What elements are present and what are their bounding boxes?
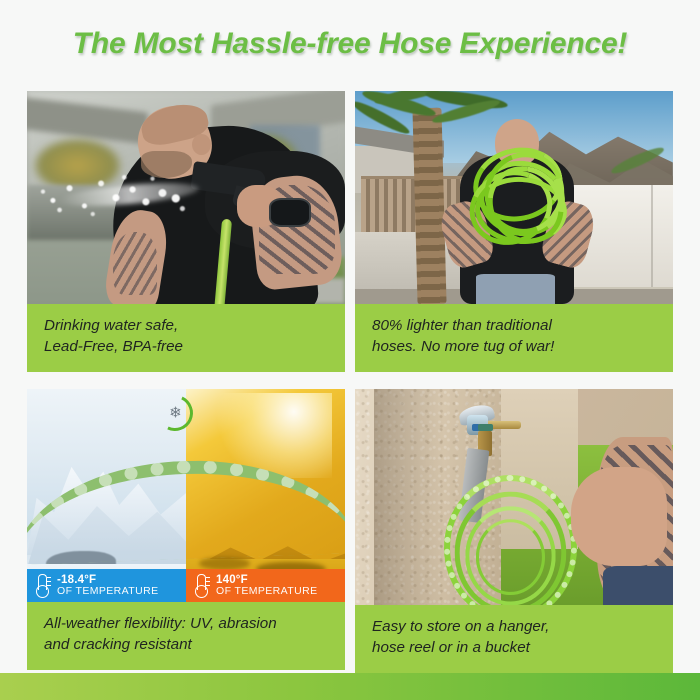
thermometer-icon	[194, 574, 209, 598]
photo-lightweight	[355, 91, 673, 304]
cold-temperature-label: OF TEMPERATURE	[57, 586, 158, 597]
hot-temperature-label: OF TEMPERATURE	[216, 586, 317, 597]
caption-line-1: Drinking water safe,	[44, 315, 331, 336]
spigot-green-fitting	[478, 424, 493, 431]
snowflake-icon: ❄	[169, 406, 182, 421]
caption-line-2: Lead-Free, BPA-free	[44, 336, 331, 357]
person-jeans	[476, 274, 556, 304]
tattoo-left-arm	[113, 232, 158, 296]
temperature-bar: -18.4°F OF TEMPERATURE 140°F OF TEMPERAT…	[27, 569, 345, 602]
wristwatch	[269, 198, 311, 228]
caption-line-2: hose reel or in a bucket	[372, 637, 659, 658]
photo-easy-to-store	[355, 389, 673, 605]
caption-line-2: and cracking resistant	[44, 634, 331, 655]
caption-line-2: hoses. No more tug of war!	[372, 336, 659, 357]
cold-temperature-badge: -18.4°F OF TEMPERATURE	[27, 569, 186, 602]
page-title: The Most Hassle-free Hose Experience!	[0, 27, 700, 61]
wall-shadow	[374, 389, 444, 605]
caption-line-1: 80% lighter than traditional	[372, 315, 659, 336]
caption-lightweight: 80% lighter than traditional hoses. No m…	[355, 304, 673, 372]
spigot	[454, 402, 537, 458]
photo-drinking-water-safe	[27, 91, 345, 304]
hose-ribbing	[444, 475, 577, 605]
person-hand	[571, 467, 666, 566]
hot-temperature-badge: 140°F OF TEMPERATURE	[186, 569, 345, 602]
caption-line-1: Easy to store on a hanger,	[372, 616, 659, 637]
palm-trunk	[413, 108, 447, 304]
water-spray	[33, 161, 198, 229]
snowflake-badge-icon: ❄	[157, 395, 193, 431]
thermometer-icon	[35, 574, 50, 598]
caption-drinking-water-safe: Drinking water safe, Lead-Free, BPA-free	[27, 304, 345, 372]
feature-card-drinking-water-safe: Drinking water safe, Lead-Free, BPA-free	[27, 91, 345, 372]
caption-easy-to-store: Easy to store on a hanger, hose reel or …	[355, 605, 673, 673]
feature-grid: Drinking water safe, Lead-Free, BPA-free	[27, 91, 673, 673]
feature-card-easy-to-store: Easy to store on a hanger, hose reel or …	[355, 389, 673, 673]
caption-line-1: All-weather flexibility: UV, abrasion	[44, 613, 331, 634]
person-sleeve	[603, 566, 673, 605]
feature-card-lightweight: 80% lighter than traditional hoses. No m…	[355, 91, 673, 372]
coiled-hose	[469, 144, 564, 246]
infographic-page: The Most Hassle-free Hose Experience!	[0, 0, 700, 700]
feature-card-all-weather: ❄ -18.4°F OF TEMPERATURE	[27, 389, 345, 673]
photo-all-weather: ❄ -18.4°F OF TEMPERATURE	[27, 389, 345, 602]
bottom-accent-bar	[0, 673, 700, 700]
caption-all-weather: All-weather flexibility: UV, abrasion an…	[27, 602, 345, 670]
